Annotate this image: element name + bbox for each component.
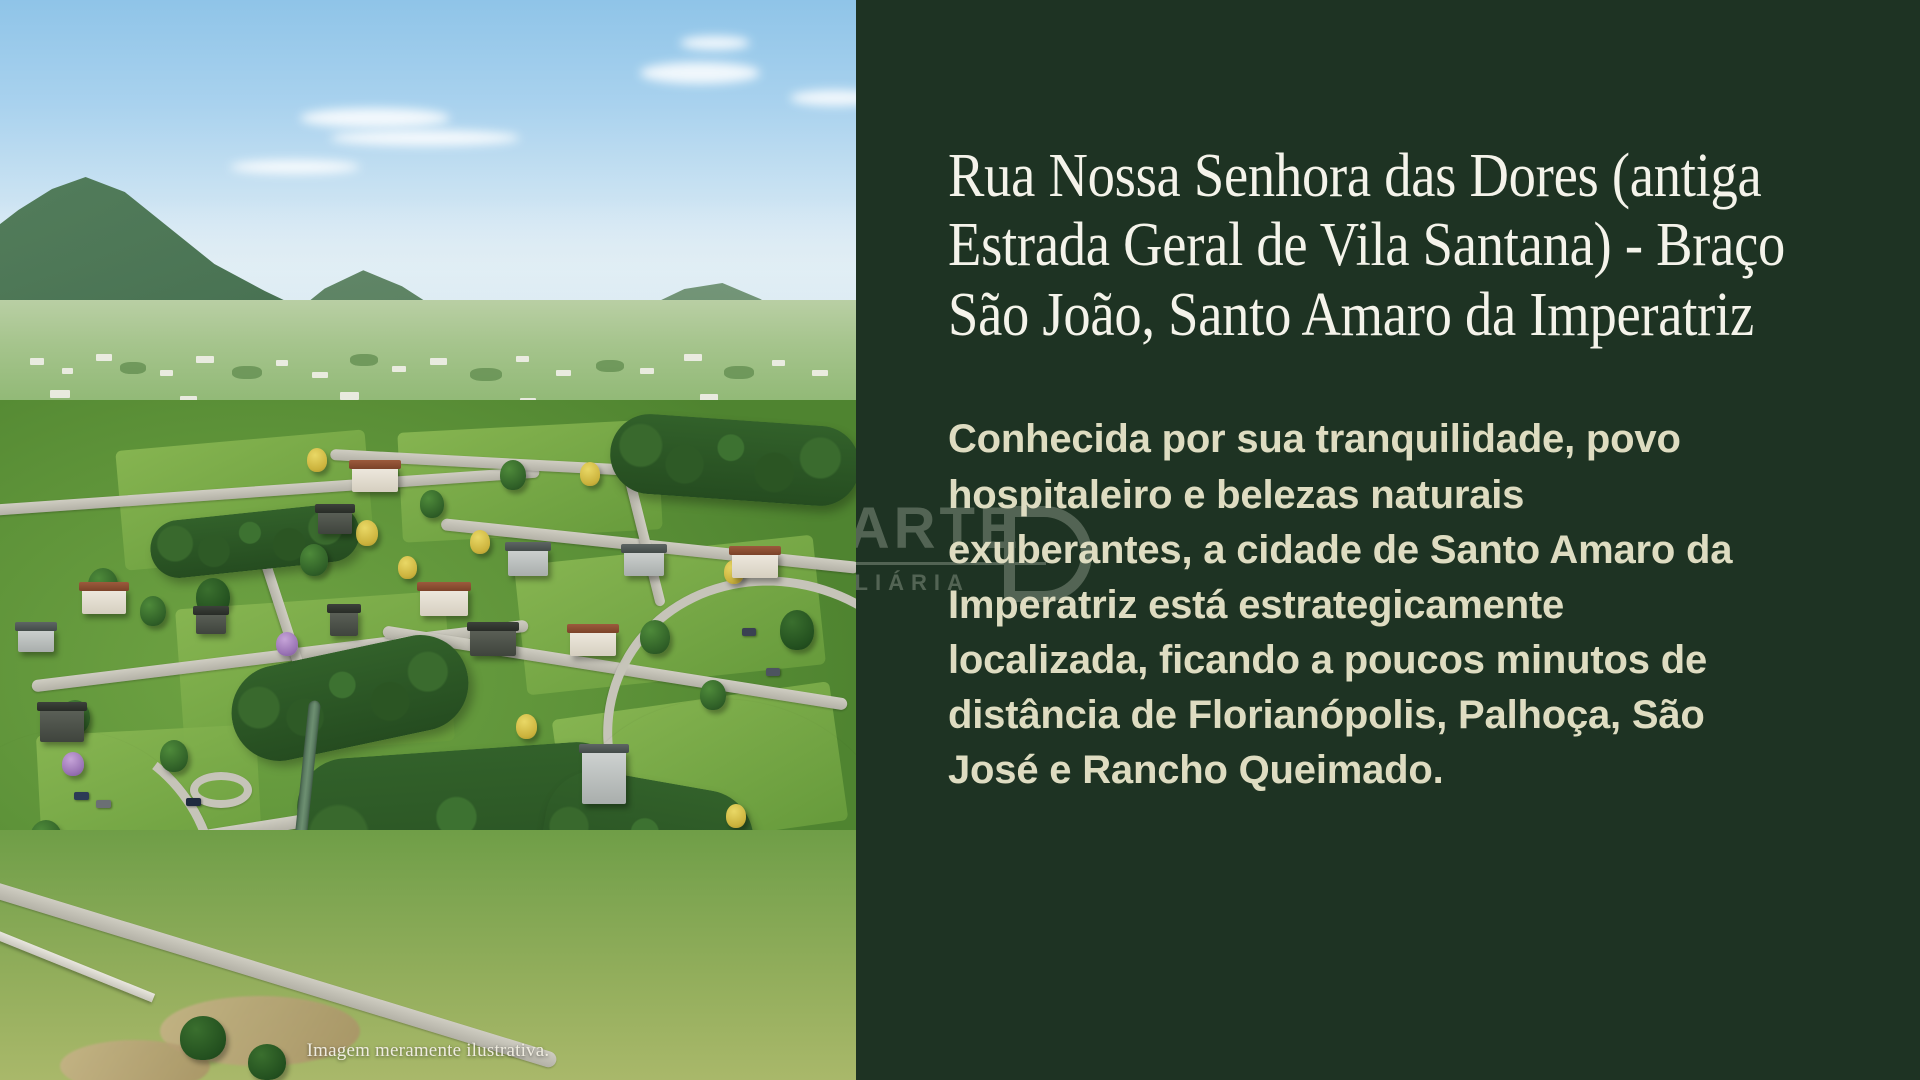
tree — [420, 490, 444, 518]
cloud — [230, 160, 360, 174]
house — [570, 630, 616, 656]
tree-flowering — [580, 462, 600, 486]
house — [508, 548, 548, 576]
cloud — [680, 36, 750, 50]
tree-jacaranda — [62, 752, 84, 776]
page-title: Rua Nossa Senhora das Dores (antiga Estr… — [948, 142, 1855, 350]
photo-disclaimer-caption: Imagem meramente ilustrativa. — [0, 1040, 856, 1062]
aerial-photo: Imagem meramente ilustrativa. — [0, 0, 856, 1080]
tree-flowering — [470, 530, 490, 554]
master-plan-estate — [0, 400, 856, 1080]
house — [196, 612, 226, 634]
house — [624, 550, 664, 576]
slide-root: Imagem meramente ilustrativa. DUARTE IMO… — [0, 0, 1920, 1080]
tree — [140, 596, 166, 626]
house — [82, 588, 126, 614]
tree-flowering — [726, 804, 746, 828]
tree — [700, 680, 726, 710]
tree — [160, 740, 188, 772]
vehicle — [74, 792, 89, 800]
vehicle — [742, 628, 756, 636]
house — [352, 466, 398, 492]
house — [330, 610, 358, 636]
vehicle — [186, 798, 201, 806]
description-paragraph: Conhecida por sua tranquilidade, povo ho… — [948, 412, 1738, 798]
house — [470, 628, 516, 656]
tree-flowering — [307, 448, 327, 472]
tree — [780, 610, 814, 650]
house — [582, 750, 626, 804]
content-panel: DUARTE IMOBILIÁRIA Rua Nossa Senhora das… — [856, 0, 1920, 1080]
vehicle — [766, 668, 780, 676]
tree — [640, 620, 670, 654]
vehicle — [96, 800, 111, 808]
tree-jacaranda — [276, 632, 298, 656]
tree-flowering — [356, 520, 378, 546]
tree-flowering — [516, 714, 537, 739]
cloud — [640, 62, 760, 84]
cloud — [300, 108, 450, 128]
cloud — [330, 130, 520, 146]
house — [420, 588, 468, 616]
tree — [500, 460, 526, 490]
house — [732, 552, 778, 578]
house — [40, 708, 84, 742]
house — [18, 628, 54, 652]
house — [318, 510, 352, 534]
tree — [300, 544, 328, 576]
tree-flowering — [398, 556, 417, 579]
